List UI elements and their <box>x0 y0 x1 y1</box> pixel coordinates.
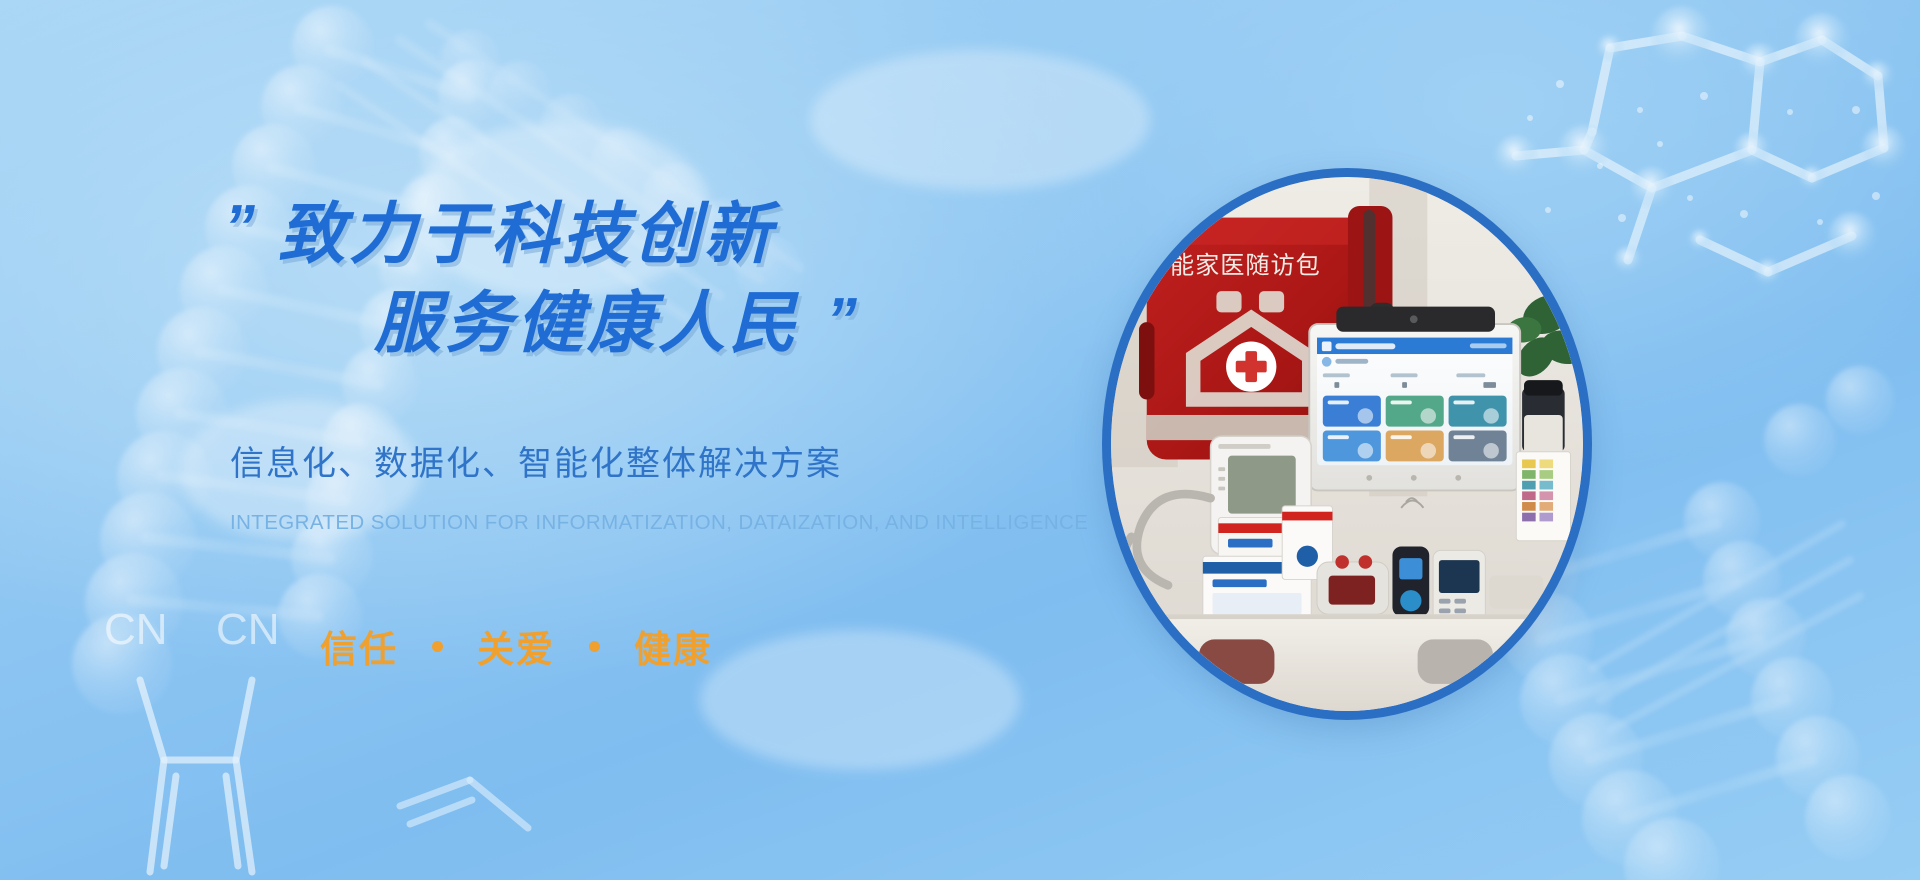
headline-line-2: 服务健康人民 <box>374 286 800 361</box>
keyword-care: 关爱 <box>477 619 555 673</box>
headline-line-2-wrapper: 服务健康人民” <box>216 285 1076 362</box>
headline-line-1: 致力于科技创新 <box>216 196 1076 273</box>
quote-open-icon: ” <box>224 192 251 263</box>
subtitle-english: INTEGRATED SOLUTION FOR INFORMATIZATION,… <box>216 511 1076 535</box>
subtitle-chinese: 信息化、数据化、智能化整体解决方案 <box>216 436 1076 485</box>
hero-photo-circle: 能家医随访包 <box>1102 168 1592 720</box>
photo-urinalysis-kit <box>1516 380 1570 541</box>
chem-label-cn-left: CN <box>104 605 168 654</box>
photo-health-tablet <box>1309 307 1520 508</box>
hero-photo-illustration: 能家医随访包 <box>1111 177 1583 711</box>
hero-photo-inner: 能家医随访包 <box>1111 177 1583 711</box>
keyword-separator-dot-1 <box>432 641 443 652</box>
headline-group: ” 致力于科技创新 服务健康人民” <box>216 196 1076 362</box>
keyword-trust: 信任 <box>320 619 398 673</box>
hero-banner: CN CN ” 致力于科技创新 服务健康人民” <box>0 0 1920 880</box>
keyword-separator-dot-2 <box>589 641 600 652</box>
banner-text-block: ” 致力于科技创新 服务健康人民” 信息化、数据化、智能化整体解决方案 INTE… <box>216 196 1076 673</box>
keyword-health: 健康 <box>634 619 712 673</box>
photo-desk-tray <box>1143 614 1565 711</box>
keyword-list: 信任 关爱 健康 <box>216 619 1076 673</box>
quote-close-icon: ” <box>826 285 853 356</box>
photo-bag-label: 能家医随访包 <box>1170 253 1321 280</box>
